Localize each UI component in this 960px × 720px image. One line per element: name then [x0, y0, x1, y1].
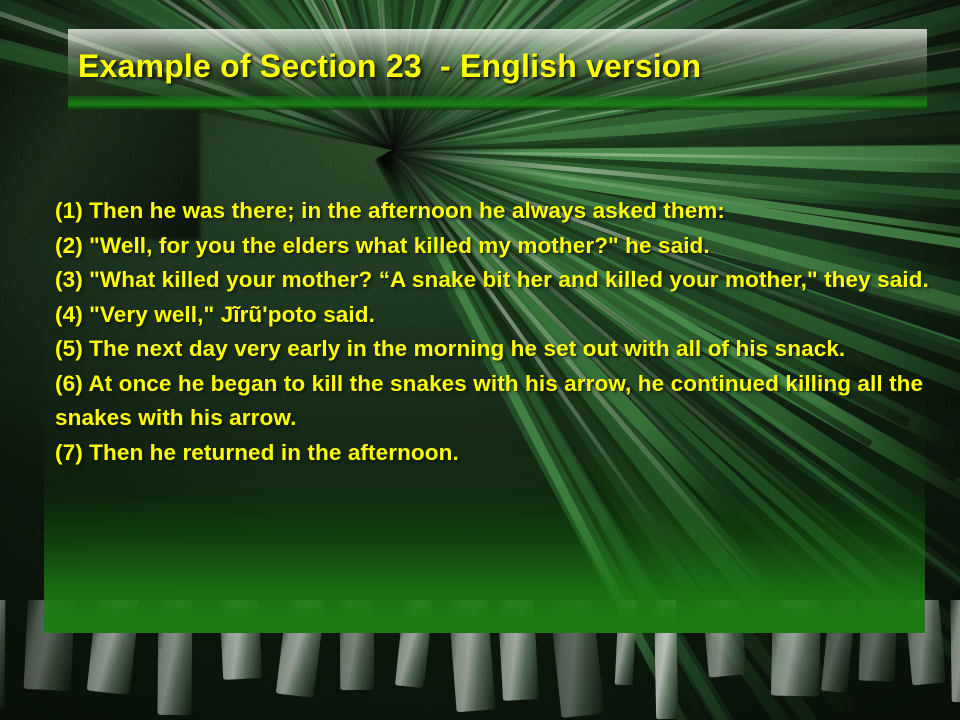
body-line: (1) Then he was there; in the afternoon …: [55, 194, 935, 229]
presentation-slide: Example of Section 23 - English version …: [0, 0, 960, 720]
slide-body-text: (1) Then he was there; in the afternoon …: [55, 194, 935, 470]
body-line: (7) Then he returned in the afternoon.: [55, 436, 935, 471]
title-underline-bar: [68, 96, 927, 110]
body-line: (2) "Well, for you the elders what kille…: [55, 229, 935, 264]
palm-blade: [0, 600, 5, 707]
body-line: (6) At once he began to kill the snakes …: [55, 367, 935, 436]
slide-title: Example of Section 23 - English version: [78, 48, 938, 85]
body-line: (5) The next day very early in the morni…: [55, 332, 935, 367]
body-line: (3) "What killed your mother? “A snake b…: [55, 263, 935, 298]
body-line: (4) "Very well," Jĩrũ'poto said.: [55, 298, 935, 333]
palm-blade: [951, 600, 960, 702]
